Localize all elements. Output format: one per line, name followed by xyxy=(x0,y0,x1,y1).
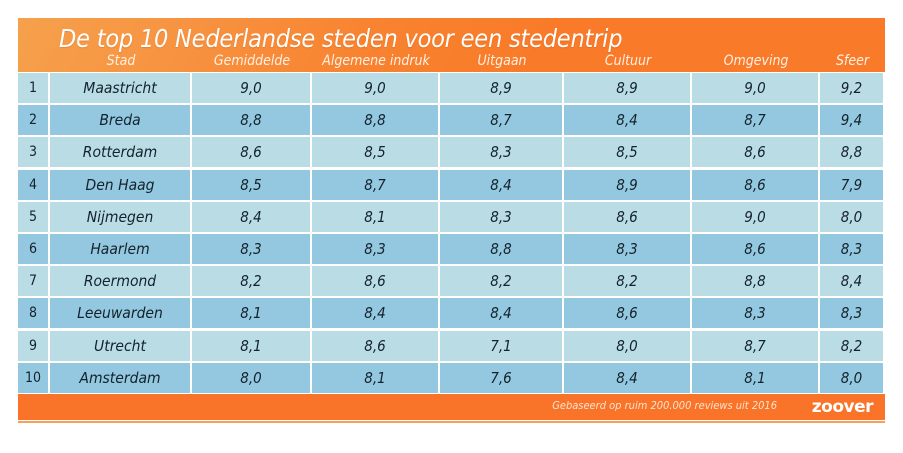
cell-rank: 3 xyxy=(18,137,48,167)
cell-alg: 8,1 xyxy=(312,363,438,393)
cell-cul: 8,0 xyxy=(564,331,690,361)
cell-rank: 1 xyxy=(18,73,48,103)
cell-cul: 8,6 xyxy=(564,202,690,232)
table-row[interactable]: 8Leeuwarden8,18,48,48,68,38,3 xyxy=(18,297,885,329)
cell-alg: 8,8 xyxy=(312,105,438,135)
cell-stad: Den Haag xyxy=(50,170,190,200)
cell-stad: Utrecht xyxy=(50,331,190,361)
cell-sfe: 8,4 xyxy=(820,266,883,296)
cell-alg: 8,6 xyxy=(312,331,438,361)
cell-alg: 8,7 xyxy=(312,170,438,200)
card-header: De top 10 Nederlandse steden voor een st… xyxy=(18,18,885,72)
cell-omg: 8,3 xyxy=(692,298,818,328)
cell-rank: 9 xyxy=(18,331,48,361)
cell-sfe: 7,9 xyxy=(820,170,883,200)
cell-alg: 8,6 xyxy=(312,266,438,296)
cell-stad: Leeuwarden xyxy=(50,298,190,328)
column-header-sfe: Sfeer xyxy=(820,52,885,70)
table-row[interactable]: 7Roermond8,28,68,28,28,88,4 xyxy=(18,265,885,297)
cell-omg: 8,6 xyxy=(692,170,818,200)
cell-uit: 8,8 xyxy=(440,234,562,264)
cell-alg: 8,5 xyxy=(312,137,438,167)
cell-gem: 8,8 xyxy=(192,105,310,135)
card-footer: Gebaseerd op ruim 200.000 reviews uit 20… xyxy=(18,394,885,420)
cell-uit: 8,3 xyxy=(440,137,562,167)
cell-gem: 8,0 xyxy=(192,363,310,393)
column-header-cul: Cultuur xyxy=(564,52,692,70)
cell-omg: 8,7 xyxy=(692,105,818,135)
cell-rank: 8 xyxy=(18,298,48,328)
cell-rank: 5 xyxy=(18,202,48,232)
column-header-alg: Algemene indruk xyxy=(312,52,440,70)
cell-cul: 8,6 xyxy=(564,298,690,328)
cell-uit: 8,2 xyxy=(440,266,562,296)
page-title: De top 10 Nederlandse steden voor een st… xyxy=(59,24,622,53)
cell-omg: 8,8 xyxy=(692,266,818,296)
cell-alg: 8,3 xyxy=(312,234,438,264)
cell-stad: Nijmegen xyxy=(50,202,190,232)
infographic-card: De top 10 Nederlandse steden voor een st… xyxy=(18,18,885,435)
table-row[interactable]: 5Nijmegen8,48,18,38,69,08,0 xyxy=(18,201,885,233)
cell-uit: 7,6 xyxy=(440,363,562,393)
cell-sfe: 8,0 xyxy=(820,363,883,393)
cell-gem: 8,1 xyxy=(192,298,310,328)
cell-omg: 9,0 xyxy=(692,73,818,103)
cell-cul: 8,3 xyxy=(564,234,690,264)
table-row[interactable]: 9Utrecht8,18,67,18,08,78,2 xyxy=(18,330,885,362)
cell-rank: 2 xyxy=(18,105,48,135)
cell-cul: 8,5 xyxy=(564,137,690,167)
column-header-gem: Gemiddelde xyxy=(192,52,312,70)
cell-uit: 8,4 xyxy=(440,170,562,200)
cell-rank: 4 xyxy=(18,170,48,200)
zoover-logo: zoover xyxy=(812,397,873,417)
cell-rank: 10 xyxy=(18,363,48,393)
cell-omg: 8,7 xyxy=(692,331,818,361)
table-row[interactable]: 3Rotterdam8,68,58,38,58,68,8 xyxy=(18,136,885,168)
cell-rank: 7 xyxy=(18,266,48,296)
cell-omg: 8,6 xyxy=(692,234,818,264)
cell-alg: 8,4 xyxy=(312,298,438,328)
cell-sfe: 8,2 xyxy=(820,331,883,361)
cell-cul: 8,2 xyxy=(564,266,690,296)
cell-gem: 8,6 xyxy=(192,137,310,167)
cell-sfe: 8,3 xyxy=(820,298,883,328)
cell-cul: 8,4 xyxy=(564,105,690,135)
cell-uit: 8,4 xyxy=(440,298,562,328)
column-header-stad: Stad xyxy=(50,52,192,70)
cell-uit: 8,3 xyxy=(440,202,562,232)
footer-underline xyxy=(18,421,885,423)
column-header-row: StadGemiddeldeAlgemene indrukUitgaanCult… xyxy=(18,52,885,72)
cell-alg: 9,0 xyxy=(312,73,438,103)
cell-rank: 6 xyxy=(18,234,48,264)
cell-omg: 8,6 xyxy=(692,137,818,167)
cell-sfe: 8,3 xyxy=(820,234,883,264)
cell-sfe: 9,2 xyxy=(820,73,883,103)
cell-sfe: 9,4 xyxy=(820,105,883,135)
table-row[interactable]: 10Amsterdam8,08,17,68,48,18,0 xyxy=(18,362,885,394)
cell-stad: Breda xyxy=(50,105,190,135)
footer-source-note: Gebaseerd op ruim 200.000 reviews uit 20… xyxy=(552,399,777,412)
cell-uit: 8,9 xyxy=(440,73,562,103)
cell-gem: 8,1 xyxy=(192,331,310,361)
cell-stad: Haarlem xyxy=(50,234,190,264)
cell-gem: 8,2 xyxy=(192,266,310,296)
cell-gem: 8,4 xyxy=(192,202,310,232)
cell-stad: Roermond xyxy=(50,266,190,296)
table-row[interactable]: 4Den Haag8,58,78,48,98,67,9 xyxy=(18,169,885,201)
cell-omg: 8,1 xyxy=(692,363,818,393)
table-row[interactable]: 6Haarlem8,38,38,88,38,68,3 xyxy=(18,233,885,265)
cell-gem: 9,0 xyxy=(192,73,310,103)
cell-uit: 8,7 xyxy=(440,105,562,135)
cell-gem: 8,5 xyxy=(192,170,310,200)
table-row[interactable]: 2Breda8,88,88,78,48,79,4 xyxy=(18,104,885,136)
cell-cul: 8,9 xyxy=(564,170,690,200)
cell-stad: Rotterdam xyxy=(50,137,190,167)
cell-cul: 8,4 xyxy=(564,363,690,393)
cell-sfe: 8,0 xyxy=(820,202,883,232)
ranking-table: 1Maastricht9,09,08,98,99,09,22Breda8,88,… xyxy=(18,72,885,394)
cell-alg: 8,1 xyxy=(312,202,438,232)
cell-gem: 8,3 xyxy=(192,234,310,264)
table-row[interactable]: 1Maastricht9,09,08,98,99,09,2 xyxy=(18,72,885,104)
cell-sfe: 8,8 xyxy=(820,137,883,167)
cell-uit: 7,1 xyxy=(440,331,562,361)
cell-omg: 9,0 xyxy=(692,202,818,232)
cell-stad: Maastricht xyxy=(50,73,190,103)
cell-stad: Amsterdam xyxy=(50,363,190,393)
column-header-omg: Omgeving xyxy=(692,52,820,70)
column-header-uit: Uitgaan xyxy=(440,52,564,70)
cell-cul: 8,9 xyxy=(564,73,690,103)
